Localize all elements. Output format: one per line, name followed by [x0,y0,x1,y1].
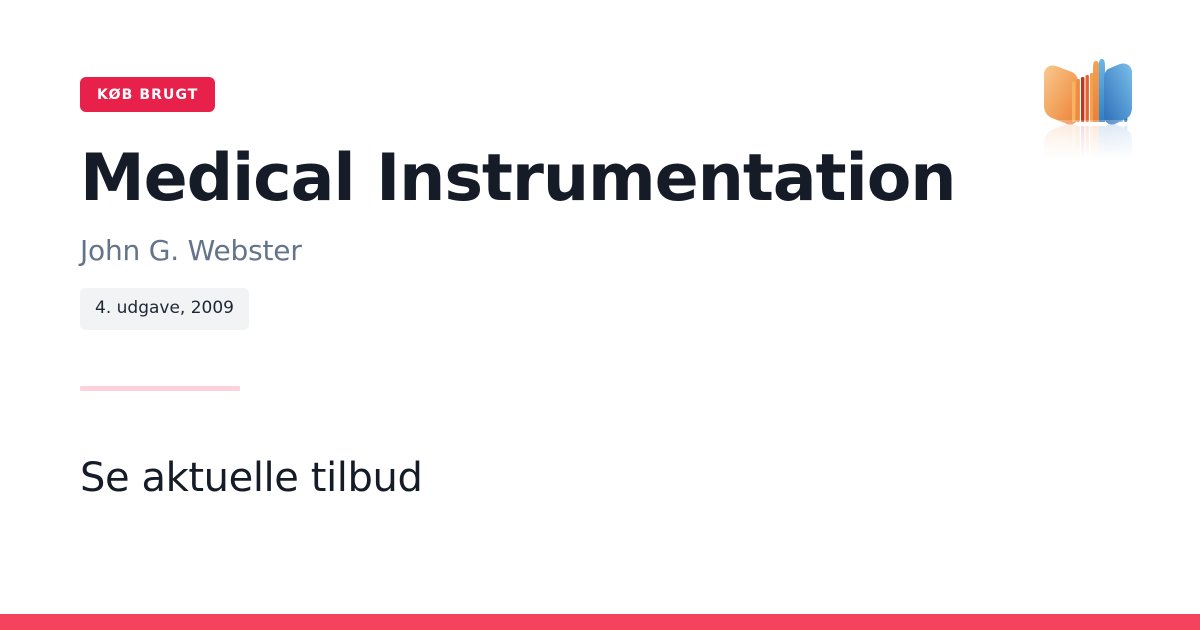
book-offer-card: KØB BRUGT Medical Instrumentation John G… [0,0,1200,630]
site-logo[interactable] [1032,48,1144,158]
book-title: Medical Instrumentation [80,145,1020,213]
cta-label[interactable]: Se aktuelle tilbud [80,454,1020,502]
condition-badge: KØB BRUGT [80,77,215,112]
section-divider [80,386,240,391]
book-author: John G. Webster [80,234,1020,268]
content-column: KØB BRUGT Medical Instrumentation John G… [80,77,1020,502]
book-edition-chip: 4. udgave, 2009 [80,288,249,330]
logo-reflection [1032,120,1144,158]
bottom-accent-bar [0,614,1200,630]
logo-mark [1044,59,1132,125]
